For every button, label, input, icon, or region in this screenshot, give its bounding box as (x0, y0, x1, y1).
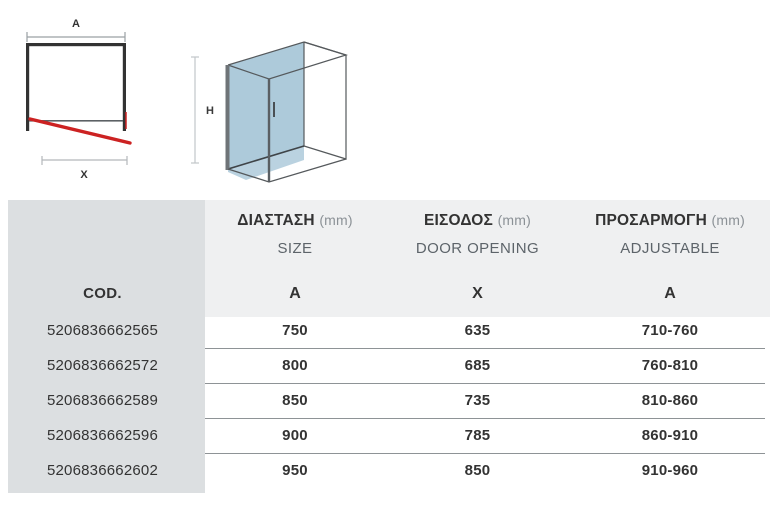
cell-door-opening: 785 (385, 418, 570, 453)
table-row[interactable]: 5206836662572 800 685 760-810 (0, 348, 770, 383)
technical-diagrams: A X (0, 0, 770, 196)
isometric-diagram: H (186, 20, 361, 190)
plan-label-x: X (80, 169, 88, 181)
cell-size: 750 (205, 313, 385, 348)
cell-door-opening: 735 (385, 383, 570, 418)
specification-table: ΔΙΑΣΤΑΣΗ (mm) SIZE ΕΙΣΟΔΟΣ (mm) DOOR OPE… (0, 196, 770, 520)
header-letter-size: A (205, 274, 385, 313)
cell-adjustable: 910-960 (570, 453, 770, 488)
cell-door-opening: 635 (385, 313, 570, 348)
cell-code: 5206836662602 (0, 453, 205, 488)
header-cell-door-opening: ΕΙΣΟΔΟΣ (mm) DOOR OPENING (385, 196, 570, 274)
table-row[interactable]: 5206836662602 950 850 910-960 (0, 453, 770, 488)
header-door-opening-unit: (mm) (498, 212, 531, 228)
header-size-unit: (mm) (319, 212, 352, 228)
cell-adjustable: 860-910 (570, 418, 770, 453)
header-letter-adjustable: A (570, 274, 770, 313)
header-adjustable-unit: (mm) (711, 212, 744, 228)
header-row-letters: COD. A X A (0, 274, 770, 313)
header-adjustable-english: ADJUSTABLE (570, 237, 770, 260)
spec-table: ΔΙΑΣΤΑΣΗ (mm) SIZE ΕΙΣΟΔΟΣ (mm) DOOR OPE… (0, 196, 770, 488)
cell-code: 5206836662596 (0, 418, 205, 453)
table-row[interactable]: 5206836662596 900 785 860-910 (0, 418, 770, 453)
cell-size: 850 (205, 383, 385, 418)
header-row-titles: ΔΙΑΣΤΑΣΗ (mm) SIZE ΕΙΣΟΔΟΣ (mm) DOOR OPE… (0, 196, 770, 274)
row-separator (205, 418, 765, 419)
cell-door-opening: 685 (385, 348, 570, 383)
row-separator (205, 453, 765, 454)
plan-view-diagram: A X (14, 8, 174, 188)
header-door-opening-english: DOOR OPENING (385, 237, 570, 260)
row-separator (205, 383, 765, 384)
table-body: 5206836662565 750 635 710-760 5206836662… (0, 313, 770, 488)
plan-label-a: A (72, 18, 80, 30)
cell-code: 5206836662572 (0, 348, 205, 383)
plan-view-svg: A X (14, 8, 174, 188)
row-separator (205, 348, 765, 349)
cell-size: 900 (205, 418, 385, 453)
left-vertical-profile (226, 65, 230, 170)
header-cod-label: COD. (0, 274, 205, 313)
header-cell-adjustable: ΠΡΟΣΑΡΜΟΓΗ (mm) ADJUSTABLE (570, 196, 770, 274)
cell-code: 5206836662589 (0, 383, 205, 418)
cell-adjustable: 760-810 (570, 348, 770, 383)
header-cell-code-empty (0, 196, 205, 274)
header-size-greek: ΔΙΑΣΤΑΣΗ (237, 212, 315, 229)
dimension-x (42, 156, 127, 165)
table-row[interactable]: 5206836662565 750 635 710-760 (0, 313, 770, 348)
cell-adjustable: 710-760 (570, 313, 770, 348)
header-cell-size: ΔΙΑΣΤΑΣΗ (mm) SIZE (205, 196, 385, 274)
right-side-panel (304, 42, 346, 159)
header-door-opening-greek: ΕΙΣΟΔΟΣ (424, 212, 493, 229)
cell-door-opening: 850 (385, 453, 570, 488)
header-letter-door-opening: X (385, 274, 570, 313)
table-row[interactable]: 5206836662589 850 735 810-860 (0, 383, 770, 418)
dimension-h (191, 57, 199, 163)
door-swing-indicator (30, 112, 130, 143)
dimension-a (27, 32, 125, 42)
cell-size: 800 (205, 348, 385, 383)
enclosure-walls (26, 43, 126, 131)
cell-size: 950 (205, 453, 385, 488)
header-size-english: SIZE (205, 237, 385, 260)
table-head: ΔΙΑΣΤΑΣΗ (mm) SIZE ΕΙΣΟΔΟΣ (mm) DOOR OPE… (0, 196, 770, 313)
cell-adjustable: 810-860 (570, 383, 770, 418)
header-adjustable-greek: ΠΡΟΣΑΡΜΟΓΗ (595, 212, 707, 229)
isometric-svg: H (186, 20, 361, 190)
iso-label-h: H (206, 105, 214, 117)
cell-code: 5206836662565 (0, 313, 205, 348)
